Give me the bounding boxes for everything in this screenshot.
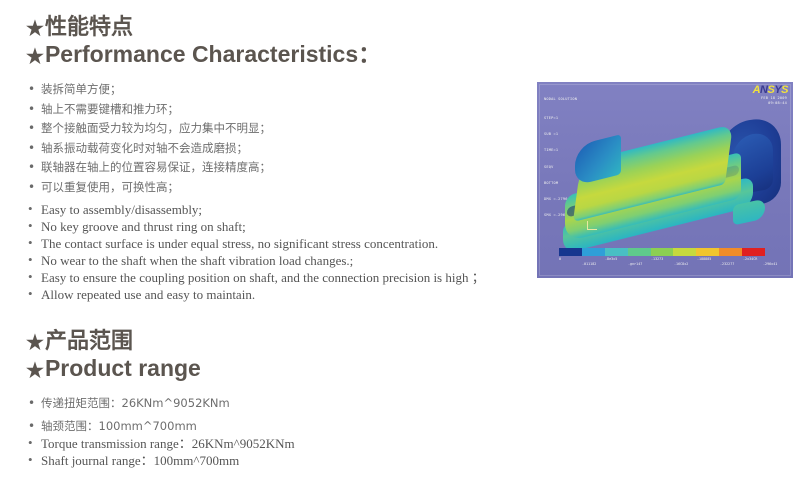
fea-info-line: STEP=1: [544, 116, 577, 121]
legend-label: .13273: [651, 257, 663, 262]
legend-swatch: [582, 248, 605, 256]
fea-analysis-image: NODAL SOLUTION STEP=1 SUB =1 TIME=1 SEQV…: [537, 82, 793, 278]
fea-info-line: BOTTOM: [544, 181, 577, 186]
legend-label: .011182: [582, 262, 596, 267]
features-list-en: Easy to assembly/disassembly; No key gro…: [28, 201, 485, 303]
legend-label: .2x34CR: [743, 257, 757, 262]
legend-label: .16C8x2: [674, 262, 688, 267]
axis-triad-icon: [584, 221, 600, 235]
section-1-heading-cn: ★性能特点: [26, 14, 133, 40]
list-item: No key groove and thrust ring on shaft;: [28, 218, 485, 235]
list-item: 轴上不需要键槽和推力环；: [28, 100, 271, 120]
list-item: Torque transmission range：26KNm^9052KNm: [28, 435, 295, 452]
ansys-logo-letter: S: [781, 84, 788, 96]
star-icon: ★: [26, 333, 44, 353]
star-icon: ★: [26, 19, 44, 39]
features-list-cn: 装拆简单方便； 轴上不需要键槽和推力环； 整个接触面受力较为均匀，应力集中不明显…: [28, 80, 271, 197]
legend-swatch: [628, 248, 651, 256]
legend-swatch: [742, 248, 765, 256]
list-item: 整个接触面受力较为均匀，应力集中不明显；: [28, 119, 271, 139]
list-item: Shaft journal range：100mm^700mm: [28, 452, 295, 469]
list-item: Easy to ensure the coupling position on …: [28, 269, 485, 286]
fea-time: 09:08:44: [761, 101, 787, 106]
fea-timestamp: FEB 18 2009 09:08:44: [761, 96, 787, 106]
section-2-heading-cn: ★产品范围: [26, 328, 133, 354]
section-2-heading-en-text: Product range: [45, 355, 201, 381]
section-2-heading-cn-text: 产品范围: [45, 328, 133, 353]
list-item: 传递扭矩范围：26KNm^9052KNm: [28, 392, 230, 415]
range-list-en: Torque transmission range：26KNm^9052KNm …: [28, 435, 295, 469]
legend-swatch: [673, 248, 696, 256]
list-item: Easy to assembly/disassembly;: [28, 201, 485, 218]
fea-info-line: SEQV: [544, 165, 577, 170]
legend-swatch: [719, 248, 742, 256]
legend-label: .8e3x5: [605, 257, 617, 262]
legend-swatch: [559, 248, 582, 256]
list-item: 可以重复使用，可换性高；: [28, 178, 271, 198]
star-icon: ★: [26, 361, 44, 381]
legend-swatch: [651, 248, 674, 256]
ansys-logo: ANSYS: [753, 84, 788, 96]
fea-info-title: NODAL SOLUTION: [544, 97, 577, 102]
fea-info-line: SUB =1: [544, 132, 577, 137]
legend-label: 0: [559, 257, 561, 262]
ansys-logo-letter: A: [753, 84, 760, 96]
list-item: No wear to the shaft when the shaft vibr…: [28, 252, 485, 269]
section-1-heading-cn-text: 性能特点: [45, 14, 133, 39]
slide-page: ★性能特点 ★Performance Characteristics： 装拆简单…: [0, 0, 811, 477]
section-1-heading-en: ★Performance Characteristics：: [26, 40, 381, 68]
fea-info-line: TIME=1: [544, 148, 577, 153]
list-item: 轴系振动载荷变化时对轴不会造成磨损；: [28, 139, 271, 159]
list-item: The contact surface is under equal stres…: [28, 235, 485, 252]
list-item: Allow repeated use and easy to maintain.: [28, 286, 485, 303]
legend-swatch: [605, 248, 628, 256]
section-2-heading-en: ★Product range: [26, 354, 201, 382]
star-icon: ★: [26, 47, 44, 67]
legend-label: .gnr147: [628, 262, 642, 267]
legend-label: .296x41: [763, 262, 777, 267]
legend-label: .232277: [720, 262, 734, 267]
range-list-cn: 传递扭矩范围：26KNm^9052KNm 轴颈范围：100mm^700mm: [28, 392, 230, 438]
list-item: 装拆简单方便；: [28, 80, 271, 100]
section-1-heading-en-text: Performance Characteristics：: [45, 41, 381, 67]
list-item: 联轴器在轴上的位置容易保证，连接精度高；: [28, 158, 271, 178]
fea-legend-labels: 0 .8e3x5 .13273 .188885 .2x34CR .011182 …: [551, 257, 777, 265]
legend-swatch: [696, 248, 719, 256]
fea-color-legend: [559, 248, 765, 256]
fea-canvas: NODAL SOLUTION STEP=1 SUB =1 TIME=1 SEQV…: [537, 82, 793, 278]
legend-label: .188885: [697, 257, 711, 262]
